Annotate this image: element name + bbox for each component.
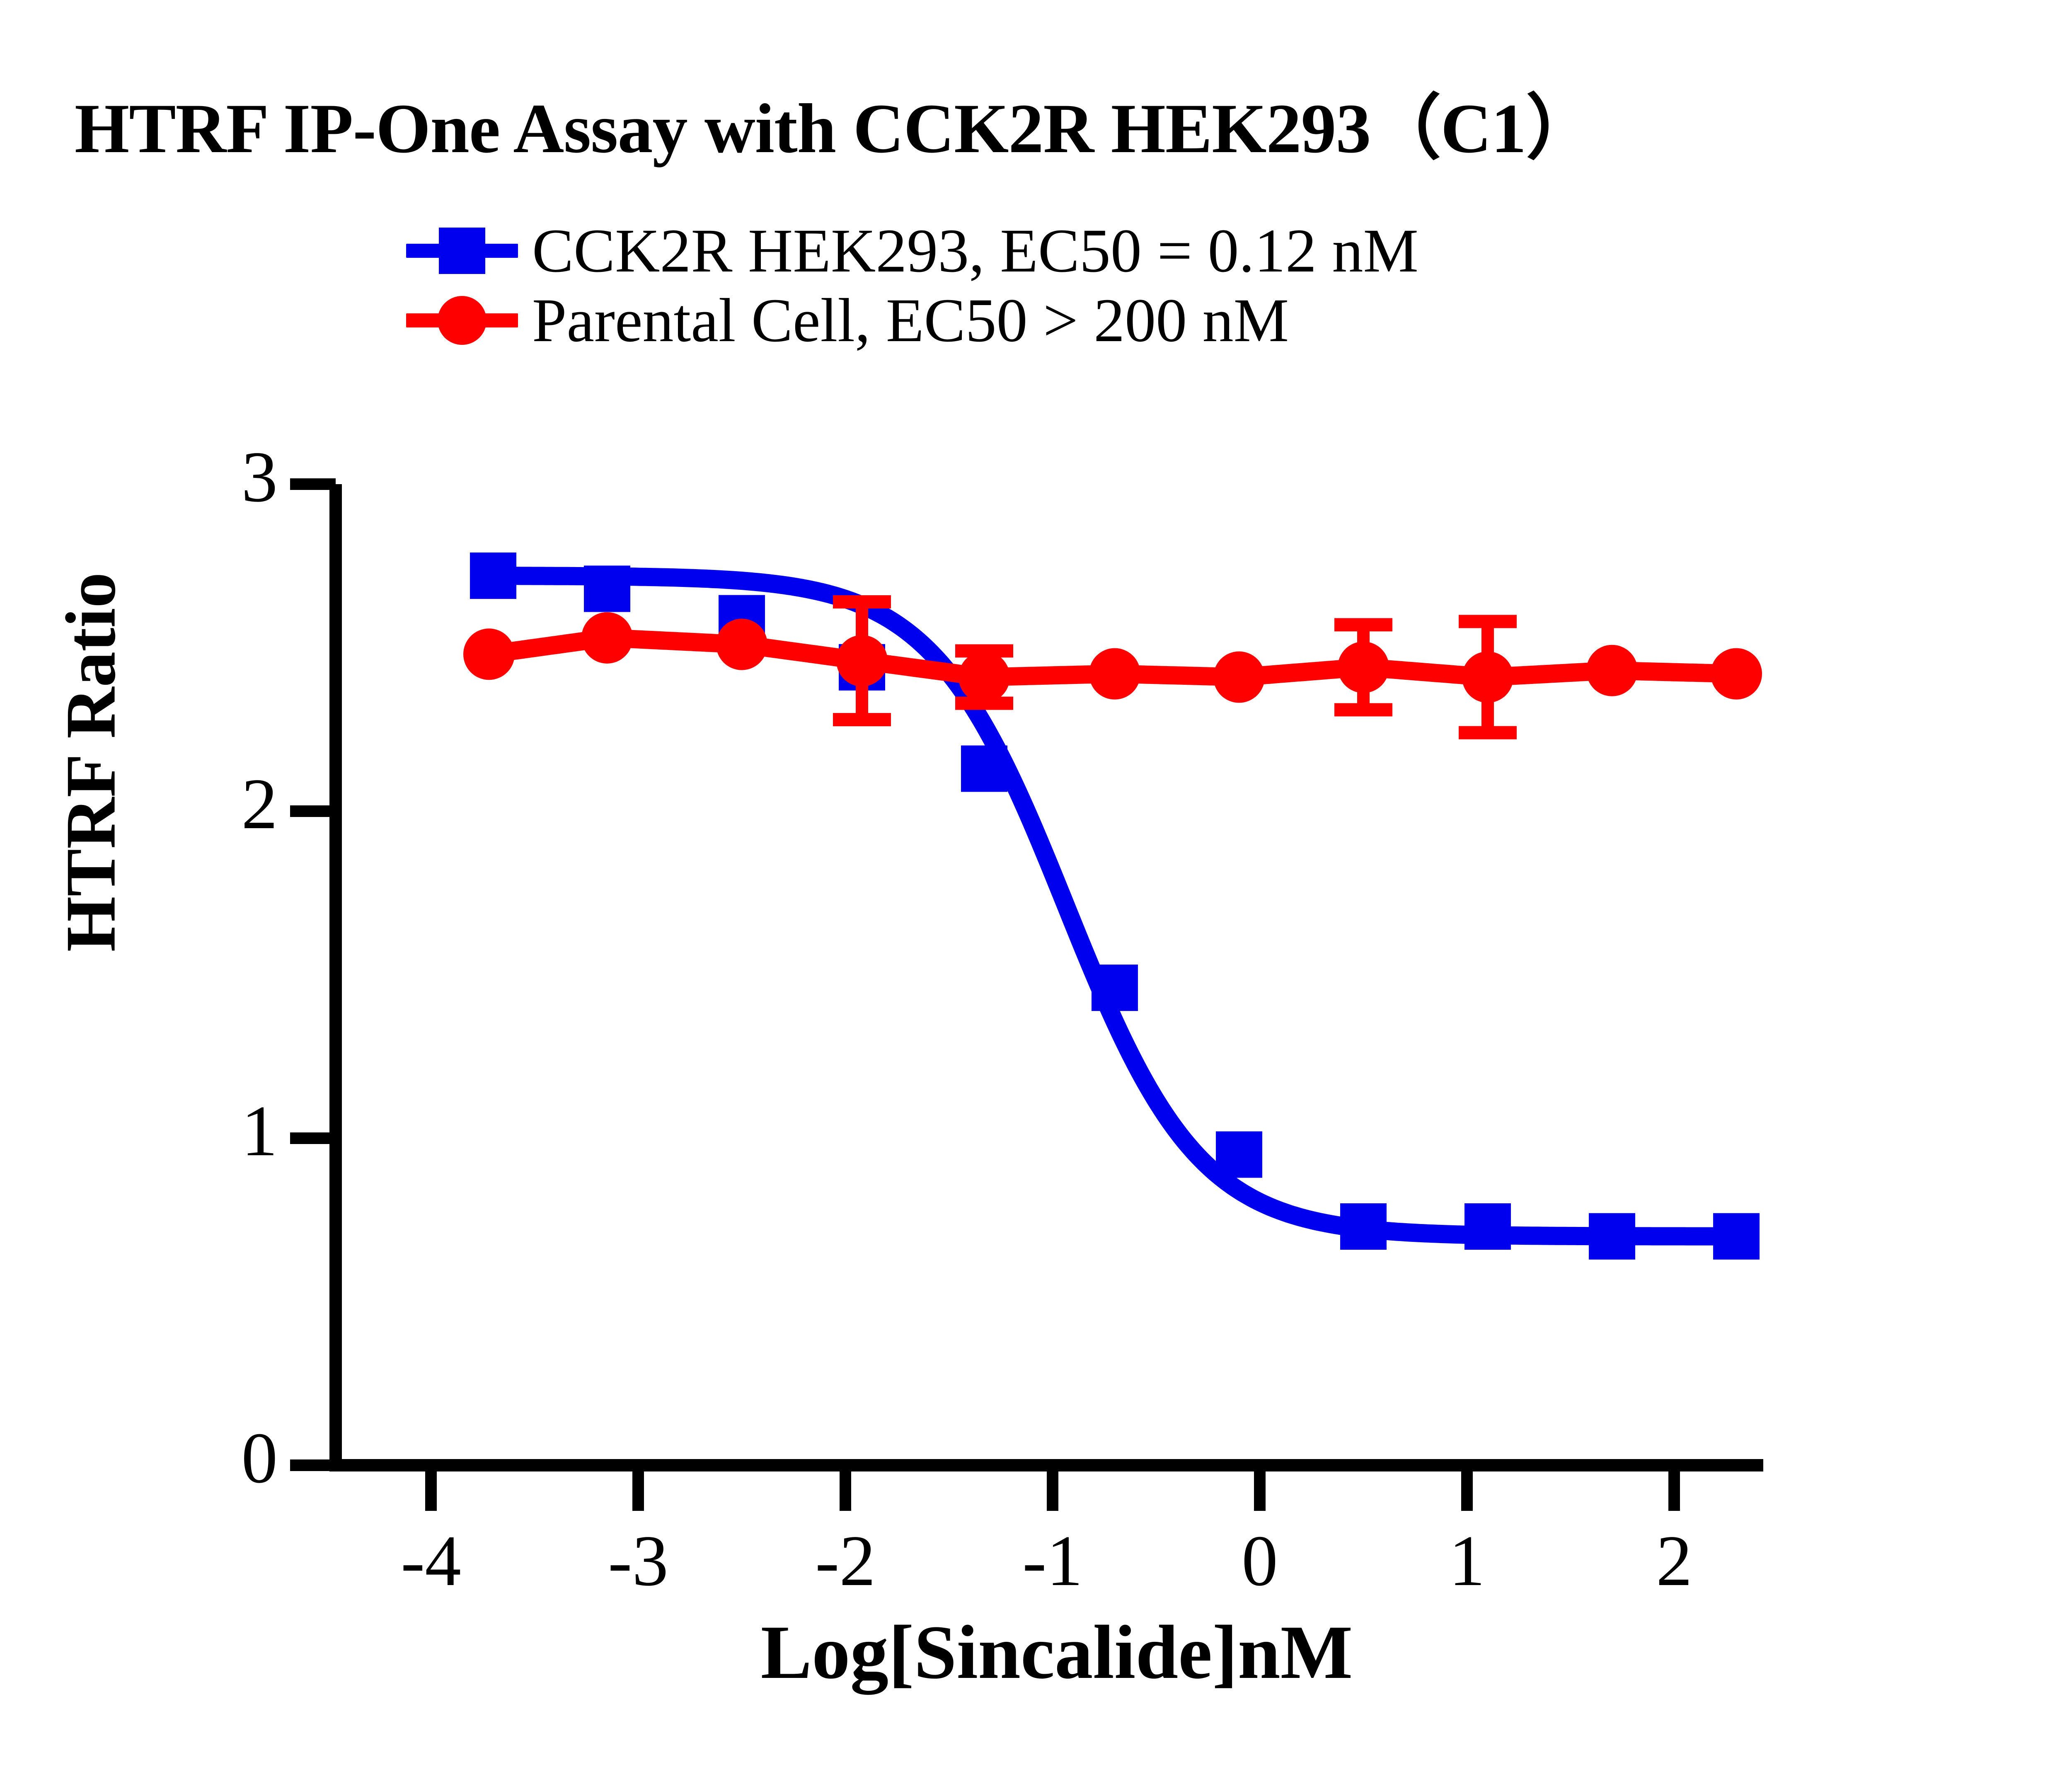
data-point-circle	[1338, 642, 1389, 693]
data-point-square	[1092, 965, 1138, 1011]
data-point-square	[1589, 1213, 1635, 1260]
x-tick-label: 0	[1198, 1519, 1322, 1602]
axes-group	[290, 484, 1763, 1511]
data-point-square	[470, 553, 516, 599]
series-parental	[463, 602, 1762, 733]
data-point-circle	[959, 652, 1010, 703]
data-point-square	[584, 565, 630, 612]
data-point-square	[1216, 1131, 1262, 1178]
x-tick-label: -4	[369, 1519, 493, 1602]
x-tick-label: 1	[1405, 1519, 1529, 1602]
data-point-circle	[581, 612, 633, 664]
x-axis-title: Log[Sincalide]nM	[456, 1608, 1658, 1697]
data-point-circle	[1089, 648, 1140, 700]
data-point-square	[1464, 1203, 1511, 1250]
series-group	[463, 553, 1762, 1260]
data-point-circle	[1711, 648, 1762, 700]
x-tick-label: 2	[1612, 1519, 1736, 1602]
x-tick-label: -3	[576, 1519, 700, 1602]
x-tick-label: -1	[990, 1519, 1115, 1602]
data-point-circle	[836, 635, 888, 686]
chart-page: HTRF IP-One Assay with CCK2R HEK293（C1） …	[0, 0, 2072, 1789]
y-tick-label: 0	[186, 1416, 278, 1500]
data-point-circle	[716, 619, 767, 670]
data-point-circle	[463, 628, 515, 680]
x-tick-label: -2	[783, 1519, 908, 1602]
data-point-square	[961, 745, 1007, 792]
data-point-square	[1713, 1213, 1760, 1260]
data-point-circle	[1213, 652, 1265, 703]
data-point-circle	[1462, 652, 1513, 703]
y-axis-title: HTRF Ratio	[51, 534, 132, 990]
data-point-circle	[1586, 645, 1638, 696]
data-point-square	[1340, 1203, 1387, 1250]
y-tick-label: 2	[186, 762, 278, 846]
y-tick-label: 3	[186, 435, 278, 519]
y-tick-label: 1	[186, 1089, 278, 1173]
